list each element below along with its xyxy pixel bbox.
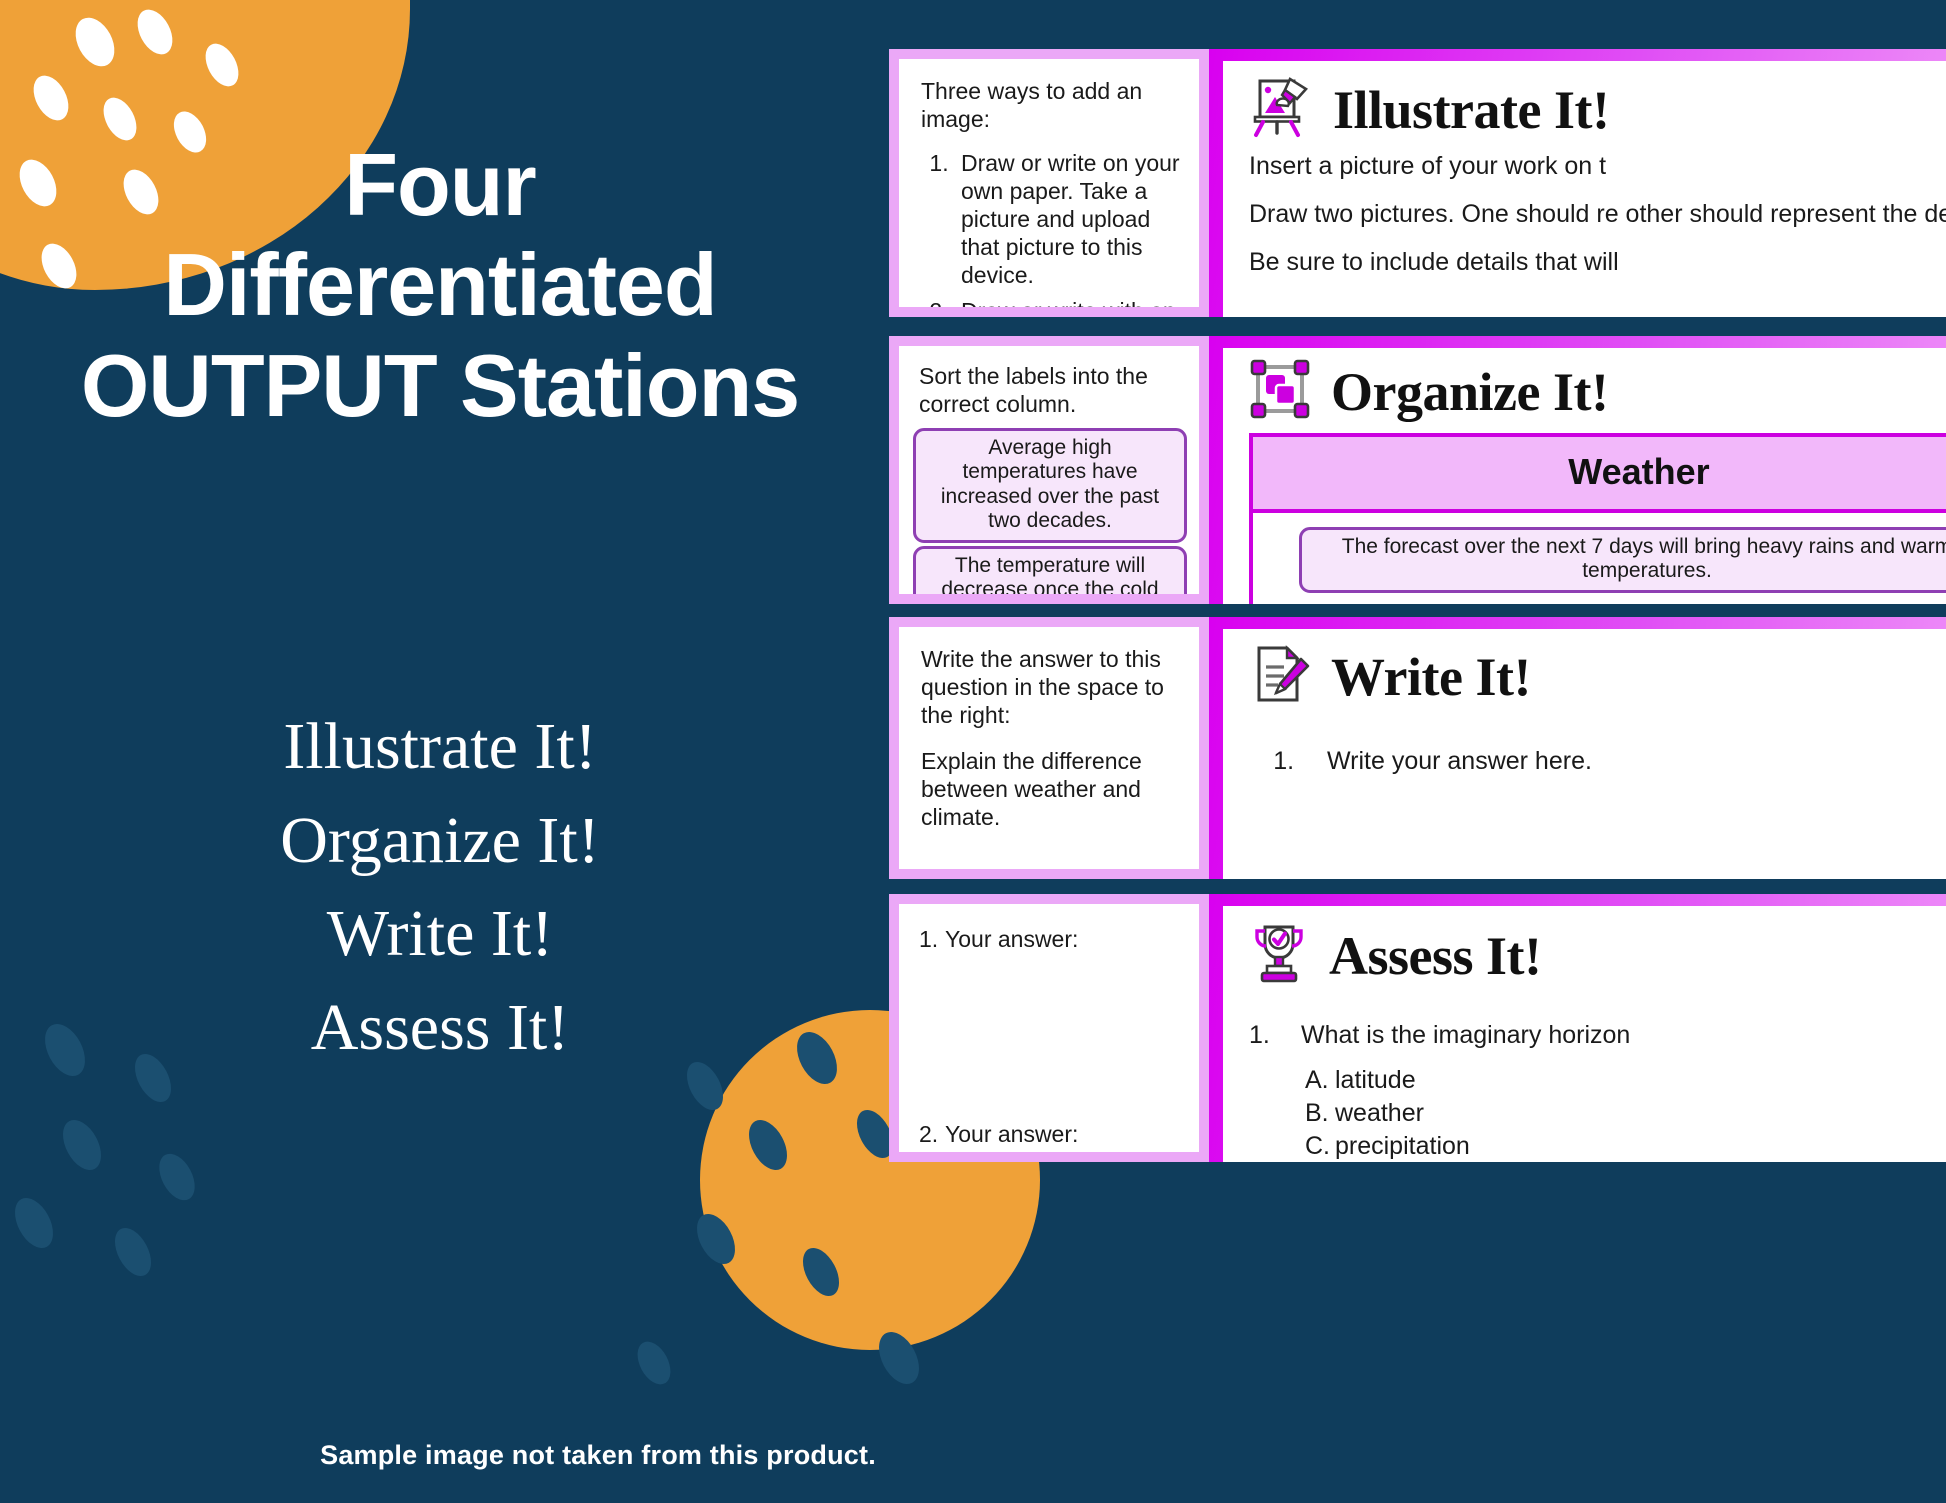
answer-slot: 2.Your answer: [919, 1121, 1183, 1148]
answer-choice[interactable]: C.precipitation [1249, 1130, 1946, 1162]
slide-row-assess[interactable]: 1.Your answer: 2.Your answer: [889, 894, 1946, 1162]
assess-question-block: 1.What is the imaginary horizon A.latitu… [1249, 1021, 1946, 1162]
answer-choice[interactable]: A.latitude [1249, 1064, 1946, 1097]
organize-intro-text: Sort the labels into the correct column. [913, 362, 1187, 418]
write-slide-card[interactable]: Write It! Write your answer here. [1209, 617, 1946, 879]
slide-title-write: Write It! [1331, 646, 1531, 708]
station-item-organize: Organize It! [60, 794, 820, 888]
slide-title-illustrate: Illustrate It! [1333, 79, 1609, 141]
slide-previews: Three ways to add an image: Draw or writ… [889, 0, 1946, 1503]
list-item: Draw or write on your own paper. Take a … [955, 149, 1183, 289]
write-intro-text: Write the answer to this question in the… [921, 645, 1183, 729]
table-cell: The forecast over the next 7 days will b… [1253, 513, 1946, 604]
document-pencil-icon [1249, 643, 1311, 710]
answer-choice[interactable]: B.weather [1249, 1097, 1946, 1130]
slide-row-organize[interactable]: Sort the labels into the correct column.… [889, 336, 1946, 604]
table-column-header-weather: Weather [1253, 437, 1946, 513]
answer-choices: A.latitude B.weather C.precipitation D.e… [1249, 1064, 1946, 1162]
sortable-label-chip[interactable]: The temperature will decrease once the c… [913, 546, 1187, 594]
slide-title-organize: Organize It! [1331, 361, 1608, 423]
illustrate-intro-text: Three ways to add an image: [921, 77, 1183, 133]
answer-slot: 1.Your answer: [919, 926, 1183, 953]
page-title: Four Differentiated OUTPUT Stations [60, 135, 820, 436]
easel-paintbrush-icon [1249, 75, 1313, 144]
organize-instructions-card[interactable]: Sort the labels into the correct column.… [889, 336, 1209, 604]
list-item: Draw or write with an online app. Take a [955, 297, 1183, 307]
list-item: Write your answer here. [1301, 744, 1946, 779]
assess-answers-card[interactable]: 1.Your answer: 2.Your answer: [889, 894, 1209, 1162]
sortable-label-chip[interactable]: Average high temperatures have increased… [913, 428, 1187, 542]
station-item-illustrate: Illustrate It! [60, 700, 820, 794]
sorted-label-chip[interactable]: The forecast over the next 7 days will b… [1299, 527, 1946, 593]
illustrate-instructions-card[interactable]: Three ways to add an image: Draw or writ… [889, 49, 1209, 317]
question-number: 1. [1249, 1021, 1301, 1050]
organize-slide-card[interactable]: Organize It! Weather The forecast over t… [1209, 336, 1946, 604]
write-instructions-card[interactable]: Write the answer to this question in the… [889, 617, 1209, 879]
illustrate-paragraph: Insert a picture of your work on t [1249, 150, 1946, 182]
answer-number: 1. [919, 926, 945, 953]
group-objects-icon [1249, 358, 1311, 425]
illustrate-paragraph: Draw two pictures. One should re other s… [1249, 198, 1946, 230]
left-title-panel: Four Differentiated OUTPUT Stations Illu… [0, 0, 880, 1503]
illustrate-steps-list: Draw or write on your own paper. Take a … [921, 149, 1183, 307]
answer-label: Your answer: [945, 926, 1078, 952]
organize-sort-table: Weather The forecast over the next 7 day… [1249, 433, 1946, 604]
station-item-write: Write It! [60, 887, 820, 981]
illustrate-paragraph: Be sure to include details that will [1249, 246, 1946, 278]
illustrate-slide-card[interactable]: Illustrate It! Insert a picture of your … [1209, 49, 1946, 317]
slide-row-write[interactable]: Write the answer to this question in the… [889, 617, 1946, 879]
trophy-check-icon [1249, 922, 1309, 989]
station-item-assess: Assess It! [60, 981, 820, 1075]
poster-canvas: Four Differentiated OUTPUT Stations Illu… [0, 0, 1946, 1503]
answer-number: 2. [919, 1121, 945, 1148]
slide-row-illustrate[interactable]: Three ways to add an image: Draw or writ… [889, 49, 1946, 317]
illustrate-slide-body: Insert a picture of your work on t Draw … [1249, 150, 1946, 278]
question-text: 1.What is the imaginary horizon [1249, 1021, 1946, 1050]
write-answer-list: Write your answer here. [1249, 744, 1946, 779]
assess-slide-card[interactable]: Assess It! 1.What is the imaginary horiz… [1209, 894, 1946, 1162]
station-list: Illustrate It! Organize It! Write It! As… [60, 700, 820, 1075]
slide-title-assess: Assess It! [1329, 925, 1542, 987]
write-prompt-text: Explain the difference between weather a… [921, 747, 1183, 831]
answer-label: Your answer: [945, 1121, 1078, 1147]
